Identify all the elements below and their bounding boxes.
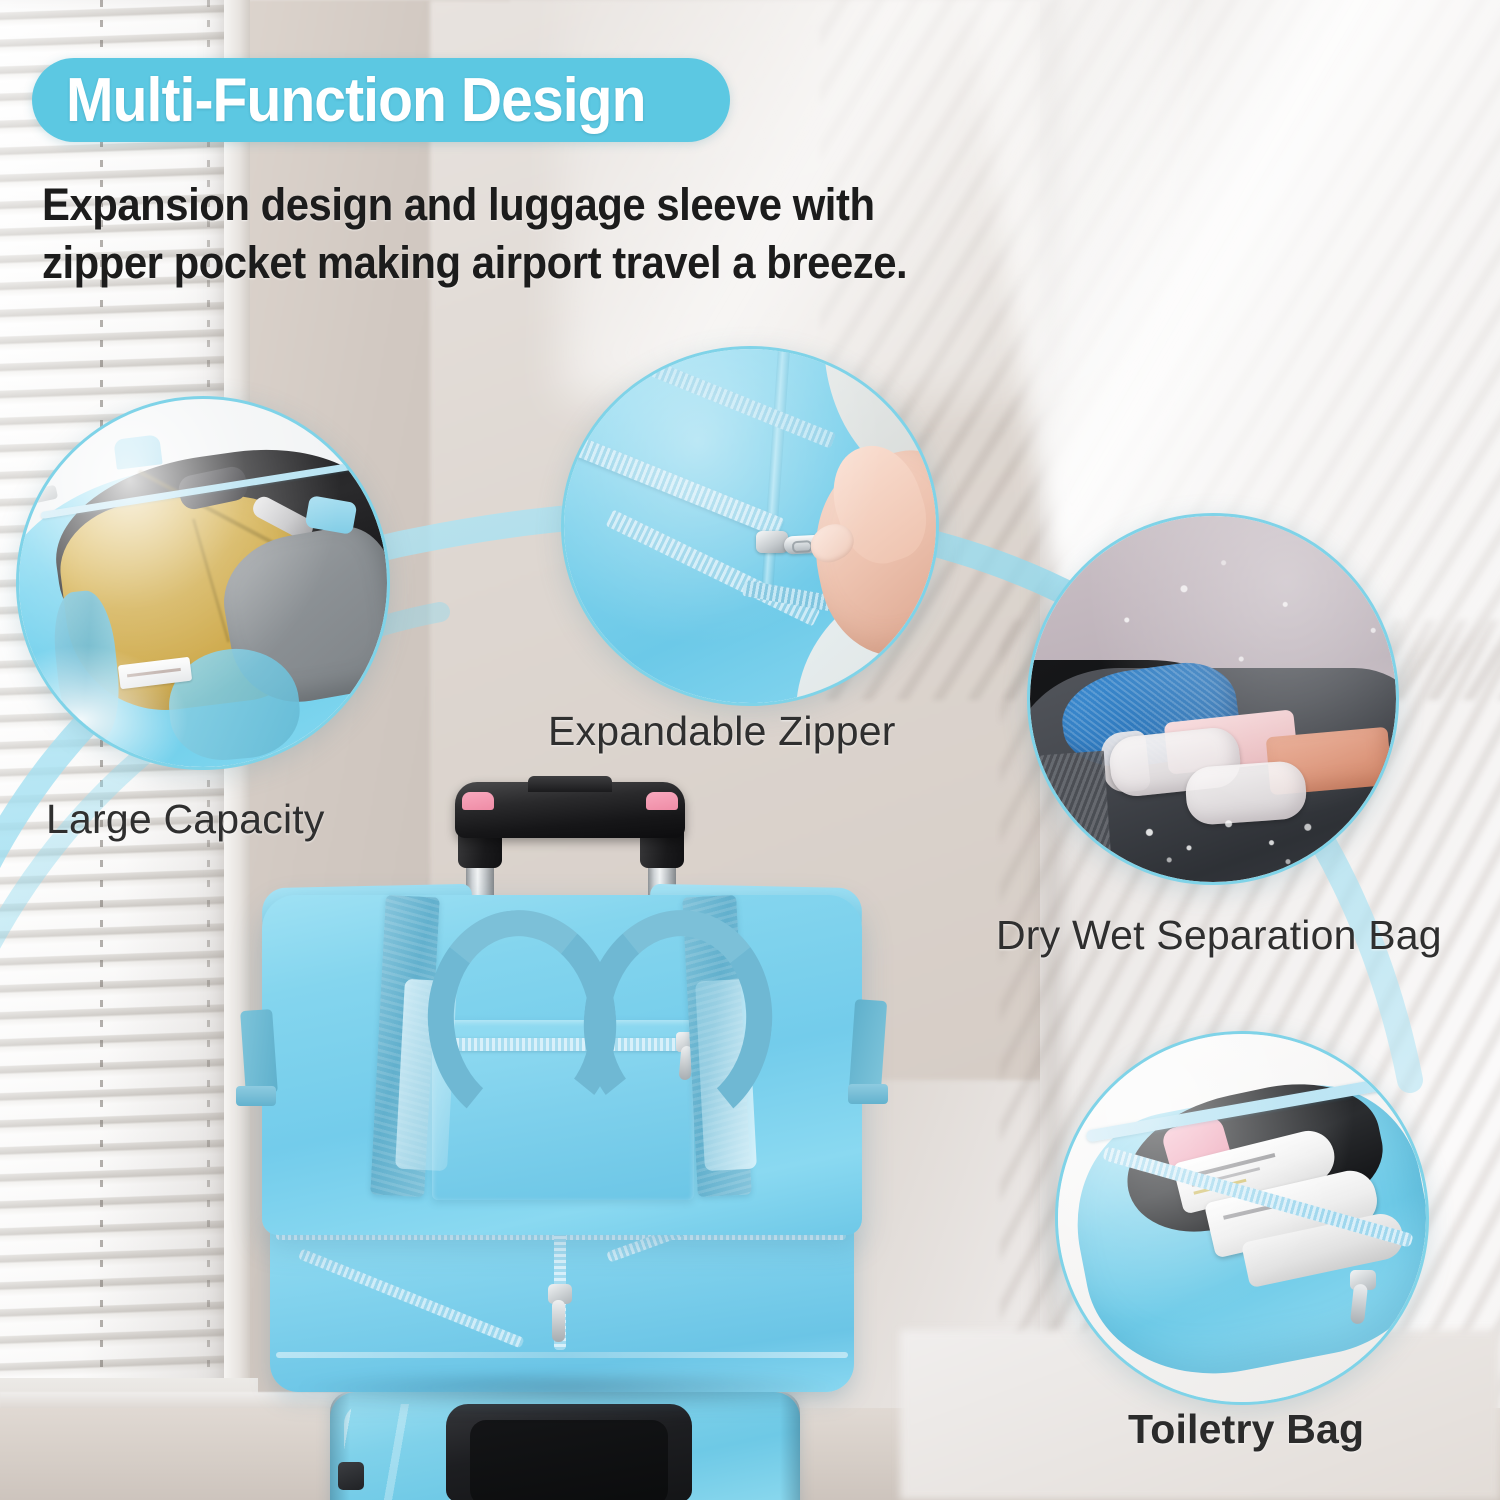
circle-gloss-3 [1030,516,1396,882]
callout-circle-large-capacity[interactable] [16,396,390,770]
caption-dry-wet-separation-bag: Dry Wet Separation Bag [996,912,1442,959]
circle-gloss-2 [564,349,936,703]
title-badge: Multi-Function Design [32,58,730,142]
subtitle: Expansion design and luggage sleeve with… [42,176,991,291]
callout-image-dry-wet-separation [1030,516,1396,882]
circle-gloss-4 [1058,1034,1426,1402]
page-title: Multi-Function Design [66,65,646,136]
subtitle-line-1: Expansion design and luggage sleeve with [42,176,991,234]
caption-expandable-zipper: Expandable Zipper [548,708,896,755]
subtitle-line-2: zipper pocket making airport travel a br… [42,234,991,292]
callout-circle-toiletry-bag[interactable] [1055,1031,1429,1405]
callout-circle-dry-wet-separation-bag[interactable] [1027,513,1399,885]
caption-large-capacity: Large Capacity [46,796,325,843]
callout-circle-expandable-zipper[interactable] [561,346,939,706]
circle-gloss-1 [19,399,387,767]
callout-image-toiletry-bag [1058,1034,1426,1402]
callout-image-expandable-zipper [564,349,936,703]
infographic-canvas: Large Capacity Expandable Zipper [0,0,1500,1500]
callout-image-large-capacity [19,399,387,767]
caption-toiletry-bag: Toiletry Bag [1128,1406,1364,1453]
